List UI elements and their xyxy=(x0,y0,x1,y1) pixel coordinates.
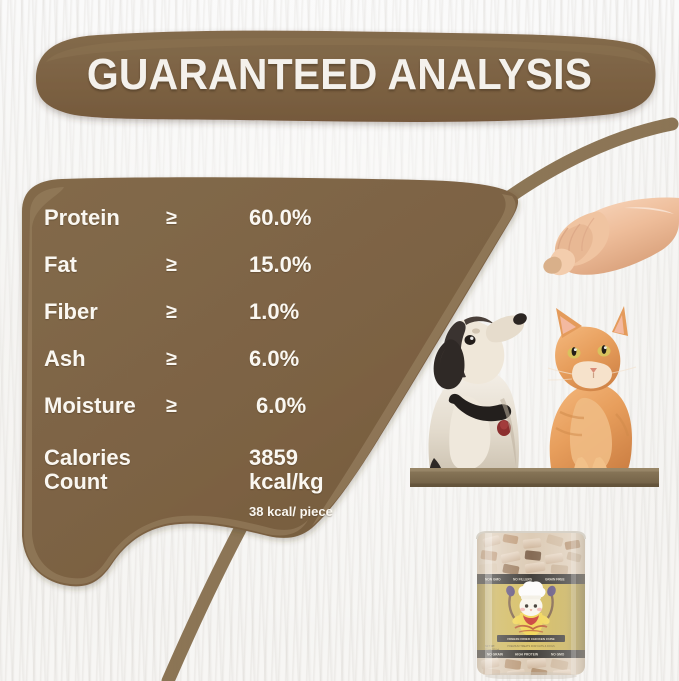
calories-label-line1: Calories xyxy=(44,445,131,470)
pets-photo xyxy=(404,188,679,488)
nutrient-value: 60.0% xyxy=(249,205,311,231)
table-row: Fiber ≥ 1.0% xyxy=(44,299,344,346)
page-title: GUARANTEED ANALYSIS xyxy=(24,50,655,100)
nutrient-label: Protein xyxy=(44,205,120,231)
comparison-operator: ≥ xyxy=(166,252,177,278)
product-jar: NON GMO NO FILLERS GRAIN FREE xyxy=(463,527,599,679)
hand-holding-treat-icon xyxy=(543,198,679,276)
calories-value-number: 3859 xyxy=(249,445,298,470)
nutrient-label: Fiber xyxy=(44,299,98,325)
calories-value-unit: kcal/kg xyxy=(249,470,324,494)
table-row: Moisture ≥ 6.0% xyxy=(44,393,344,440)
table-row: Protein ≥ 60.0% xyxy=(44,205,344,252)
guaranteed-analysis-table: Protein ≥ 60.0% Fat ≥ 15.0% Fiber ≥ 1.0%… xyxy=(44,205,344,440)
comparison-operator: ≥ xyxy=(166,299,177,325)
dog-icon xyxy=(429,311,529,476)
guaranteed-analysis-poster: GUARANTEED ANALYSIS Protein ≥ 60.0% Fat … xyxy=(0,0,679,681)
nutrient-value: 6.0% xyxy=(249,346,299,372)
comparison-operator: ≥ xyxy=(166,205,177,231)
calories-per-piece-note: 38 kcal/ piece xyxy=(249,504,333,519)
nutrient-label: Fat xyxy=(44,252,77,278)
calories-label-line2: Count xyxy=(44,469,108,494)
calories-label: Calories Count xyxy=(44,446,184,494)
table-row: Ash ≥ 6.0% xyxy=(44,346,344,393)
calories-value: 3859 kcal/kg xyxy=(249,446,324,494)
nutrient-label: Moisture xyxy=(44,393,136,419)
nutrient-value: 1.0% xyxy=(249,299,299,325)
comparison-operator: ≥ xyxy=(166,346,177,372)
nutrient-value: 6.0% xyxy=(256,393,306,419)
cat-icon xyxy=(548,306,636,476)
nutrient-label: Ash xyxy=(44,346,86,372)
nutrient-value: 15.0% xyxy=(249,252,311,278)
wooden-shelf xyxy=(410,468,659,487)
comparison-operator: ≥ xyxy=(166,393,177,419)
table-row: Fat ≥ 15.0% xyxy=(44,252,344,299)
